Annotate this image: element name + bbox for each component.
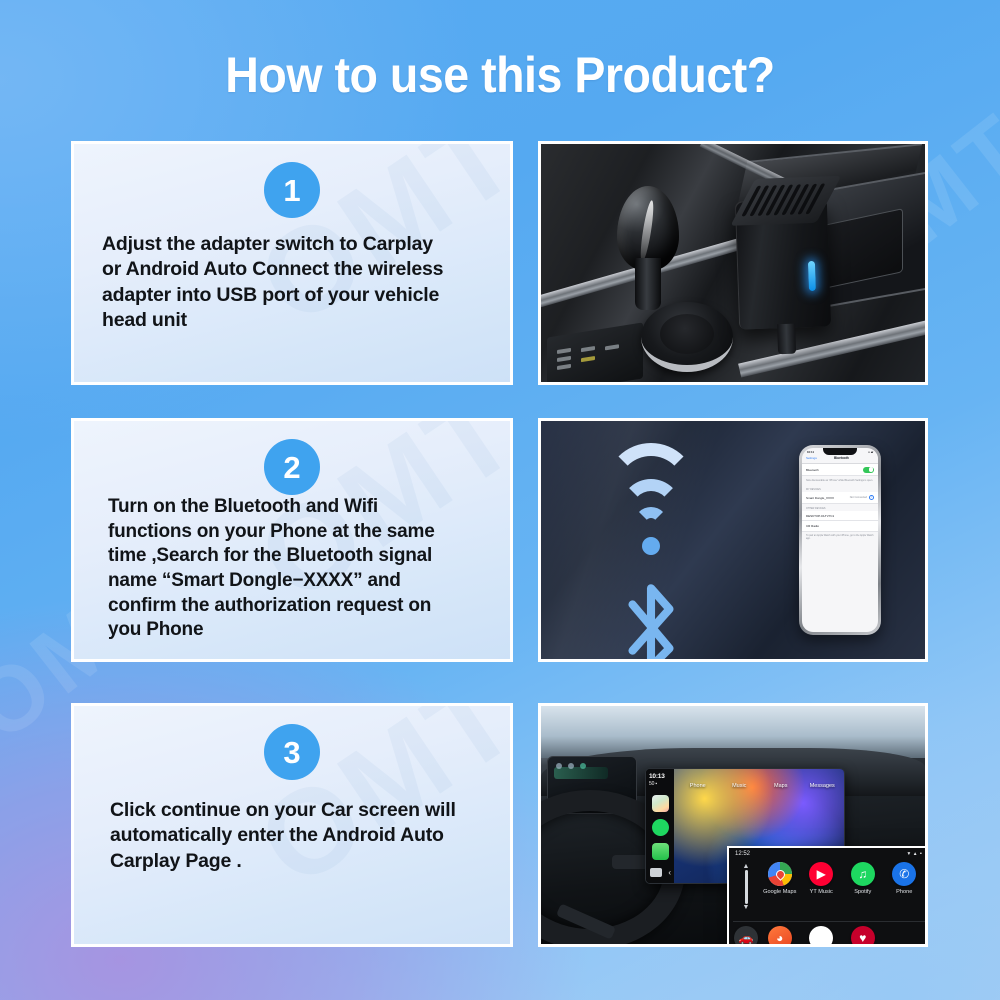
idrive-knob (641, 302, 733, 372)
pairing-footer-note: To pair an Apple Watch with your iPhone,… (802, 532, 878, 544)
back-button[interactable]: Settings (806, 456, 817, 460)
carplay-app-grid: Phone Music Maps Messages (680, 781, 840, 789)
android-auto-app-spotify[interactable]: ♫ Spotify (842, 860, 884, 898)
carplay-clock-time: 10:13 (649, 773, 665, 780)
bluetooth-toggle-row[interactable]: Bluetooth (802, 464, 878, 476)
nav-title: Bluetooth (819, 456, 864, 460)
step-photo-3: 10:13 50 ▪ ‹ Phone Mus (538, 703, 928, 947)
phone-icon: ✆ (892, 862, 916, 886)
android-auto-app-label: Google Maps (759, 889, 801, 895)
android-auto-app-exit[interactable]: 🚗 Exit (733, 924, 759, 947)
shifter-stem (635, 258, 661, 310)
carplay-signal: 50 ▪ (649, 781, 665, 787)
carplay-clock: 10:13 50 ▪ (649, 773, 665, 787)
beyondpod-icon: ◕ (768, 926, 792, 947)
device-name: Smart Dongle_XXXX (806, 496, 834, 500)
other-device-name: DESKTOP-DLTV7C1 (806, 514, 834, 518)
exit-car-icon: 🚗 (734, 926, 758, 947)
android-auto-app-calendar[interactable]: 31 Calendar (801, 924, 843, 947)
footer-note-text: To pair an Apple Watch with your iPhone,… (806, 534, 873, 540)
dongle-led-indicator (808, 261, 816, 291)
iphone-nav-bar: Settings Bluetooth (802, 454, 878, 464)
youtube-music-icon: ▶ (809, 862, 833, 886)
android-auto-app-label: Phone (884, 889, 926, 895)
device-row-smart-dongle[interactable]: Smart Dongle_XXXX Not Connected i (802, 492, 878, 503)
chevron-down-icon[interactable]: ▼ (743, 904, 750, 911)
android-auto-status-icons: ▾ ▴ ▪ (907, 851, 923, 857)
carplay-app-messages[interactable]: Messages (805, 781, 841, 789)
wifi-bluetooth-image: 10:11 ▪▪ ▰ Settings Bluetooth Bluetooth … (541, 421, 925, 659)
rail-spotify-icon[interactable] (652, 819, 669, 836)
device-status: Not Connected (850, 496, 867, 499)
android-auto-screen[interactable]: 12:52 ▾ ▴ ▪ ▲ ▼ Google Maps ▶ (727, 846, 928, 947)
iphone-screen: 10:11 ▪▪ ▰ Settings Bluetooth Bluetooth … (802, 448, 878, 632)
android-auto-app-grid: ▲ ▼ Google Maps ▶ YT Music ♫ Spotif (729, 858, 928, 947)
bluetooth-note: Now discoverable as “iPhone” while Bluet… (802, 476, 878, 485)
other-device-name: CR Radio (806, 524, 819, 528)
console-button-pad (547, 322, 643, 385)
android-auto-app-beyond-pod[interactable]: ◕ Beyond Pod (759, 924, 801, 947)
step-text-2: Turn on the Bluetooth and Wifi functions… (74, 495, 510, 643)
android-auto-app-yt-music[interactable]: ▶ YT Music (801, 860, 843, 898)
step-card-2: OMT 2 Turn on the Bluetooth and Wifi fun… (71, 418, 513, 662)
step-photo-1 (538, 141, 928, 385)
grid-divider (733, 921, 925, 922)
carplay-app-music[interactable]: Music (722, 781, 758, 789)
step-number-badge-1: 1 (264, 162, 320, 218)
chevron-up-icon[interactable]: ▲ (743, 863, 750, 870)
calendar-icon: 31 (809, 926, 833, 947)
other-device-row[interactable]: CR Radio (802, 521, 878, 531)
iphone-device: 10:11 ▪▪ ▰ Settings Bluetooth Bluetooth … (799, 445, 881, 635)
car-dashboard-image: 10:13 50 ▪ ‹ Phone Mus (541, 706, 925, 944)
step-number-badge-3: 3 (264, 724, 320, 780)
step-text-1: Adjust the adapter switch to Carplay or … (74, 232, 510, 333)
google-maps-icon (768, 862, 792, 886)
step-row-1: OMT 1 Adjust the adapter switch to Carpl… (0, 141, 1000, 385)
step-card-1: OMT 1 Adjust the adapter switch to Carpl… (71, 141, 513, 385)
step-photo-2: 10:11 ▪▪ ▰ Settings Bluetooth Bluetooth … (538, 418, 928, 662)
status-indicators: ▪▪ ▰ (868, 450, 873, 454)
step-number-badge-2: 2 (264, 439, 320, 495)
android-auto-app-label: YT Music (801, 889, 843, 895)
carplay-side-rail: 10:13 50 ▪ ‹ (646, 769, 674, 883)
rail-phone-icon[interactable] (652, 843, 669, 860)
other-device-row[interactable]: DESKTOP-DLTV7C1 (802, 511, 878, 521)
carplay-app-label: Maps (763, 783, 799, 789)
bluetooth-icon (613, 579, 689, 662)
android-auto-app-iheartradio[interactable]: ♥ iHeartRadio (842, 924, 884, 947)
bluetooth-toggle[interactable] (863, 467, 874, 473)
carplay-app-phone[interactable]: Phone (680, 781, 716, 789)
carplay-app-label: Messages (805, 783, 841, 789)
other-devices-label: OTHER DEVICES (806, 507, 826, 510)
scrollbar-handle[interactable] (745, 870, 748, 904)
carplay-app-maps[interactable]: Maps (763, 781, 799, 789)
dongle-usb-plug (777, 324, 796, 355)
wireless-adapter-dongle (735, 198, 831, 329)
step-row-2: OMT 2 Turn on the Bluetooth and Wifi fun… (0, 418, 1000, 662)
android-auto-app-google-maps[interactable]: Google Maps (759, 860, 801, 898)
page-title: How to use this Product? (35, 46, 965, 104)
android-auto-status-bar: 12:52 ▾ ▴ ▪ (729, 848, 928, 858)
iphone-notch (823, 448, 857, 455)
my-devices-header: MY DEVICES (802, 485, 878, 493)
android-auto-clock: 12:52 (735, 851, 750, 857)
android-auto-app-label: Spotify (842, 889, 884, 895)
spotify-icon: ♫ (851, 862, 875, 886)
car-console-image (541, 144, 925, 382)
chevron-left-icon[interactable]: ‹ (668, 868, 671, 877)
android-auto-app-phone[interactable]: ✆ Phone (884, 860, 926, 898)
iheartradio-icon: ♥ (851, 926, 875, 947)
carplay-grid-button[interactable] (650, 868, 662, 877)
gear-shifter (617, 186, 679, 308)
wifi-icon (597, 477, 705, 557)
carplay-app-label: Phone (680, 783, 716, 789)
step-row-3: OMT 3 Click continue on your Car screen … (0, 703, 1000, 947)
status-time: 10:11 (807, 450, 814, 454)
step-text-3: Click continue on your Car screen will a… (74, 798, 510, 874)
rail-maps-icon[interactable] (652, 795, 669, 812)
android-auto-scroll-rail[interactable]: ▲ ▼ (733, 860, 759, 919)
step-card-3: OMT 3 Click continue on your Car screen … (71, 703, 513, 947)
info-icon[interactable]: i (869, 495, 874, 500)
other-devices-header: OTHER DEVICES (802, 504, 878, 512)
carplay-app-label: Music (722, 783, 758, 789)
bluetooth-label: Bluetooth (806, 468, 819, 472)
